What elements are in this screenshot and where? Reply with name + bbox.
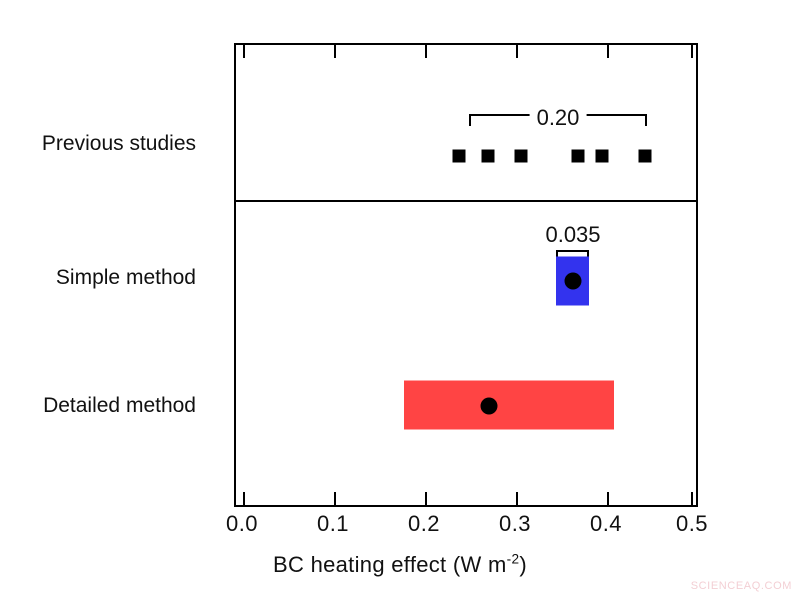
range-bar-detailed-method bbox=[404, 381, 614, 430]
plot-area: 0.20 0.035 0.24 bbox=[234, 43, 698, 507]
x-tick-label-0: 0.0 bbox=[226, 511, 258, 537]
x-tick-top-4 bbox=[607, 45, 609, 58]
x-tick-label-5: 0.5 bbox=[676, 511, 708, 537]
category-label-simple-method: Simple method bbox=[56, 265, 196, 290]
category-label-detailed-method: Detailed method bbox=[43, 393, 196, 418]
data-point-square bbox=[482, 150, 495, 163]
data-point-square bbox=[515, 150, 528, 163]
x-axis-title: BC heating effect (W m-2) bbox=[0, 552, 800, 578]
x-tick-label-2: 0.2 bbox=[408, 511, 440, 537]
watermark: SCIENCEAQ.COM bbox=[691, 580, 792, 592]
x-tick-3 bbox=[516, 492, 518, 505]
center-dot-detailed-method bbox=[481, 398, 498, 415]
x-axis-title-exponent: -2 bbox=[507, 552, 520, 567]
chart-canvas: Previous studies Simple method Detailed … bbox=[0, 0, 800, 600]
x-tick-0 bbox=[243, 492, 245, 505]
center-dot-simple-method bbox=[565, 273, 582, 290]
x-axis-title-base: BC heating effect (W m bbox=[273, 552, 507, 577]
data-point-square bbox=[639, 150, 652, 163]
x-tick-top-3 bbox=[516, 45, 518, 58]
x-tick-2 bbox=[425, 492, 427, 505]
x-tick-top-1 bbox=[334, 45, 336, 58]
data-point-square bbox=[572, 150, 585, 163]
spread-label-simple-method: 0.035 bbox=[538, 223, 607, 247]
x-tick-4 bbox=[607, 492, 609, 505]
x-tick-label-4: 0.4 bbox=[590, 511, 622, 537]
x-tick-5 bbox=[691, 492, 693, 505]
x-tick-label-1: 0.1 bbox=[317, 511, 349, 537]
x-tick-1 bbox=[334, 492, 336, 505]
x-axis-title-tail: ) bbox=[519, 552, 527, 577]
spread-label-previous-studies: 0.20 bbox=[530, 106, 587, 130]
data-point-square bbox=[596, 150, 609, 163]
data-point-square bbox=[453, 150, 466, 163]
x-tick-top-0 bbox=[243, 45, 245, 58]
x-tick-top-5 bbox=[691, 45, 693, 58]
category-label-previous-studies: Previous studies bbox=[42, 131, 196, 156]
x-tick-label-3: 0.3 bbox=[499, 511, 531, 537]
x-tick-top-2 bbox=[425, 45, 427, 58]
panel-divider bbox=[236, 200, 696, 202]
